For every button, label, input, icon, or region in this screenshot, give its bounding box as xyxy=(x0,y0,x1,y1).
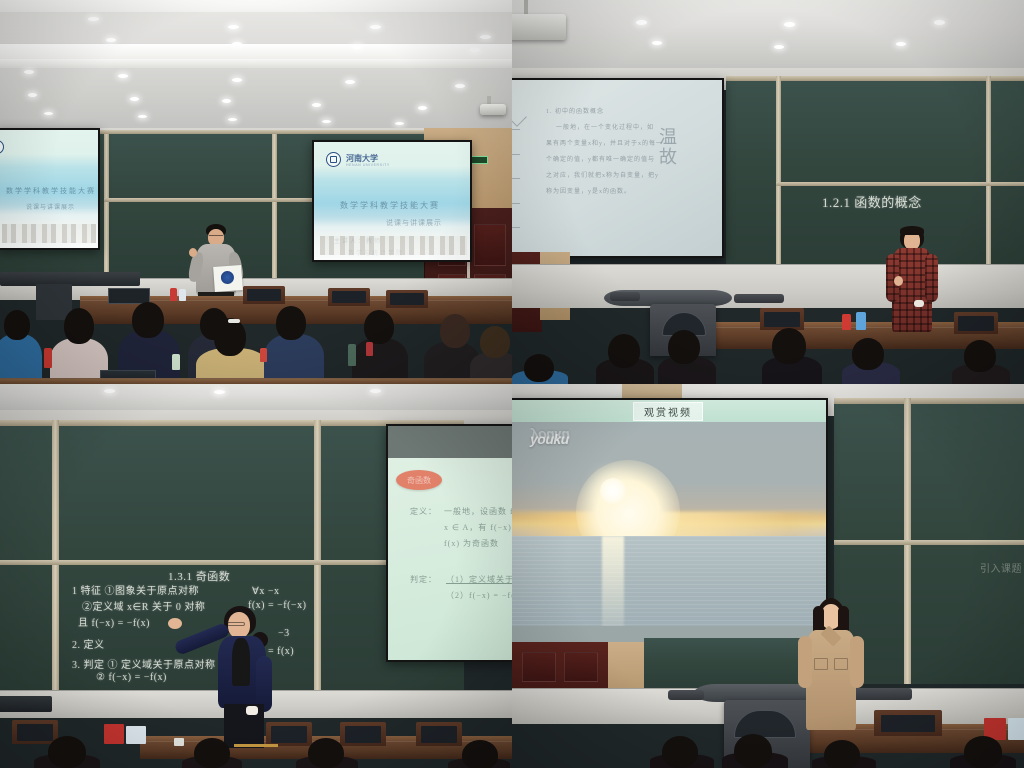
slide-judge-label: 判定： xyxy=(410,574,437,585)
audience-head xyxy=(668,330,700,364)
slide-badge-label: 奇函数 xyxy=(396,470,442,490)
audience-hair-clip xyxy=(228,319,240,323)
teacher-hand-gesture xyxy=(894,276,903,286)
slide-def-text: 一般地，设函数 f(x) 的定义域为 A，若对任意 xyxy=(444,506,512,517)
ceiling-band-bright xyxy=(0,44,512,59)
audience-head xyxy=(48,736,86,768)
blackboard-divider xyxy=(52,420,59,692)
slide-check-mark-icon xyxy=(512,107,527,127)
teacher-hand-chalk xyxy=(914,300,924,307)
teacher-tan xyxy=(800,598,862,748)
audience-head xyxy=(64,308,94,344)
audience-head xyxy=(480,326,510,358)
audience-head xyxy=(734,734,772,768)
audience-shoulders xyxy=(0,334,42,384)
ceiling-downlight xyxy=(345,80,355,84)
audience-head xyxy=(308,738,344,768)
teacher-arm-right xyxy=(850,636,864,688)
blackboard-rail xyxy=(834,540,1024,545)
audience-head xyxy=(662,736,698,768)
ceiling-downlight xyxy=(88,17,99,21)
photo-collage: 数学学科教学技能大赛 说课与讲课展示 河南大学 HENAN UNIVERSITY… xyxy=(0,0,1024,768)
ceiling-downlight xyxy=(322,120,331,123)
ceiling-downlight xyxy=(222,99,231,103)
ceiling-downlight xyxy=(214,390,225,394)
teacher-turtleneck xyxy=(232,638,250,686)
ceiling-downlight xyxy=(232,42,242,46)
ceiling-downlight xyxy=(455,84,465,88)
podium-wing-left xyxy=(668,690,704,700)
projector xyxy=(480,104,506,115)
teacher-hair-front xyxy=(900,226,924,235)
ceiling-downlight xyxy=(934,20,945,25)
ceiling-downlight xyxy=(784,22,795,27)
audience-row xyxy=(512,734,1024,768)
av-equipment-bench xyxy=(0,696,52,712)
slide-body-line: 之对应，我们就把x称为自变量，把y xyxy=(546,170,659,179)
teacher-plaid xyxy=(884,226,940,336)
ceiling-downlight xyxy=(652,41,662,45)
chalk-line: 3. 判定 ① 定义域关于原点对称 xyxy=(72,656,216,671)
teacher-glasses-icon xyxy=(227,622,245,626)
ceiling-downlight xyxy=(370,25,381,29)
hnu-crest-sublabel: HENAN UNIVERSITY xyxy=(346,163,390,167)
ceiling-downlight xyxy=(232,78,242,82)
slide-video-header: 观赏视频 xyxy=(512,400,826,422)
slide-def-text: x ∈ A，有 f(−x) = −f(x)，则称 xyxy=(444,522,512,533)
audience-head xyxy=(364,310,394,344)
audience-head xyxy=(276,306,306,340)
slide-body-line: 个确定的值，y都有唯一确定的值与 xyxy=(546,154,655,163)
slide-definition: 奇函数 定义： 一般地，设函数 f(x) 的定义域为 A，若对任意 x ∈ A，… xyxy=(388,458,512,660)
projection-screen: 1. 初中的函数概念 一般地，在一个变化过程中，如 果有两个变量x和y，并且对于… xyxy=(512,78,724,258)
panel-bottom-left: 1.3.1 奇函数 1 特征 ①图象关于原点对称 ②定义域 x∈R 关于 0 对… xyxy=(0,384,512,768)
panel-top-left: 数学学科教学技能大赛 说课与讲课展示 河南大学 HENAN UNIVERSITY… xyxy=(0,0,512,384)
audience-head xyxy=(214,318,246,356)
audience-head xyxy=(964,340,996,372)
ceiling-downlight xyxy=(774,45,784,49)
panel-top-right: 1.2.1 函数的概念 1. 初中的函数概念 一般地，在一个变化过程中，如 果有… xyxy=(512,0,1024,384)
ceiling-downlight xyxy=(138,115,147,118)
slide-title-right: 河南大学 HENAN UNIVERSITY 数学学科教学技能大赛 说课与讲课展示… xyxy=(314,142,470,260)
slide-review: 1. 初中的函数概念 一般地，在一个变化过程中，如 果有两个变量x和y，并且对于… xyxy=(512,80,722,256)
chalk-line: ②定义域 x∈R 关于 0 对称 xyxy=(82,598,205,613)
ceiling-downlight xyxy=(118,74,128,78)
audience-shoulders xyxy=(264,334,324,384)
projection-screen-left: 数学学科教学技能大赛 说课与讲课展示 xyxy=(0,128,100,250)
youku-watermark-shadow: youku xyxy=(531,429,570,441)
audience-head xyxy=(524,354,554,382)
ceiling-downlight xyxy=(352,45,362,49)
ceiling-downlight xyxy=(480,35,491,39)
ceiling-soffit-lower xyxy=(0,59,512,68)
ceiling-downlight xyxy=(106,38,116,42)
audience-head xyxy=(772,328,806,364)
teacher-hand-pointing xyxy=(168,618,182,629)
slide-body-line: 果有两个变量x和y，并且对于x的每一 xyxy=(546,138,663,147)
chalk-line: 且 f(−x) = −f(x) xyxy=(78,614,150,629)
podium-wing-right xyxy=(734,294,784,303)
ceiling-downlight xyxy=(130,97,139,101)
slide-big-text: 温故 xyxy=(654,128,682,168)
presenter-document xyxy=(213,265,243,292)
ceiling-downlight xyxy=(228,118,237,121)
audience-head xyxy=(440,314,470,348)
projection-screen-right: 河南大学 HENAN UNIVERSITY 数学学科教学技能大赛 说课与讲课展示… xyxy=(312,140,472,262)
video-frame: youku youku xyxy=(512,422,826,626)
audience-head xyxy=(132,302,164,338)
projection-screen: 奇函数 定义： 一般地，设函数 f(x) 的定义域为 A，若对任意 x ∈ A，… xyxy=(386,424,512,662)
sun-reflection xyxy=(602,536,624,626)
audience-head xyxy=(824,740,860,768)
exit-sign xyxy=(470,156,488,164)
blackboard-rail xyxy=(776,182,1024,186)
door-panel xyxy=(522,652,556,682)
audience-head xyxy=(852,338,884,370)
ceiling-downlight xyxy=(228,25,239,29)
audience-bottle xyxy=(366,342,373,356)
ceiling-downlight xyxy=(24,70,34,74)
slide-def-text: f(x) 为奇函数 xyxy=(444,538,499,549)
ceiling-downlight xyxy=(896,42,906,46)
teacher-arm-left xyxy=(798,636,812,688)
teacher-pocket xyxy=(814,658,828,670)
blackboard xyxy=(726,76,1024,266)
ceiling-downlight xyxy=(28,93,37,97)
blackboard-lesson-title: 1.2.1 函数的概念 xyxy=(822,192,922,211)
chalk-line: 2. 定义 xyxy=(72,636,105,651)
audience-row xyxy=(0,736,512,768)
slide-judge-text: （2）f(−x) = −f(x) xyxy=(446,590,512,601)
slide-body-line: 一般地，在一个变化过程中，如 xyxy=(556,122,654,131)
blackboard-top-rail xyxy=(834,398,1024,404)
audience-bottle xyxy=(44,348,52,368)
audience-bottle xyxy=(348,344,356,366)
panel-bottom-right: 引入课题 观赏视频 youku youku xyxy=(512,384,1024,768)
hnu-crest-icon xyxy=(326,152,341,167)
audience-row xyxy=(512,324,1024,384)
audience-bottle xyxy=(172,354,180,370)
ceiling-downlight xyxy=(470,48,480,52)
slide-cityscape-left xyxy=(0,208,98,248)
ceiling-downlight xyxy=(44,112,53,115)
audience-head xyxy=(4,310,30,340)
projection-screen: 观赏视频 youku youku xyxy=(512,398,828,644)
sea-surface xyxy=(512,536,826,626)
projector-mount xyxy=(524,0,528,14)
chalk-side-note: ∀x −x xyxy=(252,586,279,597)
blackboard-divider xyxy=(314,420,321,692)
slide-title-text-right: 数学学科教学技能大赛 xyxy=(340,200,440,211)
slide-video-title: 观赏视频 xyxy=(633,402,703,421)
slide-badge: 奇函数 xyxy=(396,470,442,490)
stage-chair xyxy=(874,710,942,736)
document-emblem-icon xyxy=(220,271,234,285)
ceiling-downlight xyxy=(636,20,647,25)
audience-head xyxy=(964,736,1002,768)
audience-head xyxy=(462,740,498,768)
blackboard-divider xyxy=(104,130,109,280)
podium-wing-left xyxy=(610,292,640,301)
slide-body-line: 称为因变量，y是x的函数。 xyxy=(546,186,631,195)
blackboard-divider xyxy=(272,130,277,280)
slide-def-label: 定义： xyxy=(410,506,437,517)
door-panel xyxy=(474,224,506,266)
presenter-hand-raised xyxy=(189,248,197,257)
blackboard-divider xyxy=(986,76,991,266)
slide-heading: 1. 初中的函数概念 xyxy=(546,106,604,115)
chalk-line: 1 特征 ①图象关于原点对称 xyxy=(72,582,199,597)
ceiling-downlight xyxy=(395,122,404,125)
hnu-crest-icon xyxy=(0,140,4,154)
audience-bottle xyxy=(260,348,267,362)
audience-head xyxy=(608,334,640,368)
chalk-line: ② f(−x) = −f(x) xyxy=(96,672,167,683)
projector xyxy=(512,14,566,40)
door-panel xyxy=(564,652,598,682)
presenter-glasses-icon xyxy=(209,235,223,238)
slide-judge-text: （1）定义域关于原点对称 xyxy=(446,574,512,585)
slide-cityscape-right xyxy=(314,220,470,260)
slide-title-text-left: 数学学科教学技能大赛 xyxy=(6,186,96,196)
audience-head xyxy=(194,738,230,768)
ceiling-downlight xyxy=(370,389,381,393)
ceiling-downlight xyxy=(418,106,427,110)
teacher-hand-chalk xyxy=(246,706,258,715)
blackboard-note: 引入课题 xyxy=(980,560,1022,575)
blackboard-divider xyxy=(776,76,781,266)
blackboard-top-rail xyxy=(726,76,1024,81)
teacher-arm-right xyxy=(925,254,938,302)
ceiling-downlight xyxy=(104,389,115,393)
presenter-belt xyxy=(198,292,234,296)
slide-video: 观赏视频 youku youku xyxy=(512,400,826,642)
ceiling-soffit-upper xyxy=(0,0,512,12)
ceiling-downlight xyxy=(312,103,321,107)
sun-icon xyxy=(600,478,626,504)
slide-side-marks xyxy=(512,129,521,231)
audience-row xyxy=(0,300,512,384)
presenter-male xyxy=(186,224,246,300)
teacher-navy xyxy=(210,606,280,746)
ceiling xyxy=(512,0,1024,72)
slide-title-left: 数学学科教学技能大赛 说课与讲课展示 xyxy=(0,130,98,248)
teacher-pocket xyxy=(834,658,848,670)
